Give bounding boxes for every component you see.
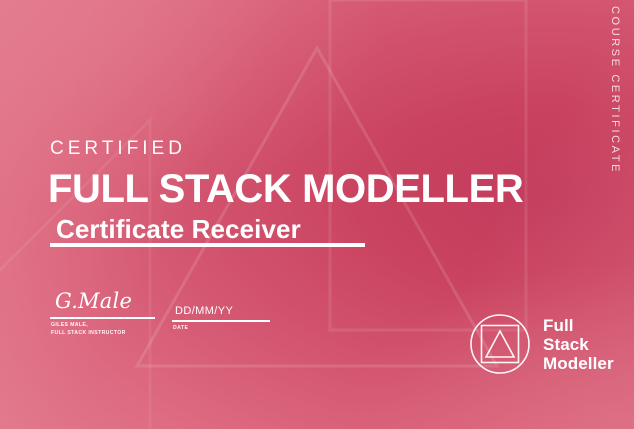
- date-rule: [172, 320, 270, 322]
- brand-wordmark: Full Stack Modeller: [543, 316, 614, 373]
- brand-wordmark-line-2: Stack: [543, 335, 614, 354]
- date-value: DD/MM/YY: [175, 306, 233, 317]
- recipient-underline: [50, 243, 365, 247]
- signature-script: G.Male: [55, 291, 132, 312]
- recipient-name: Certificate Receiver: [56, 216, 301, 243]
- brand-wordmark-line-3: Modeller: [543, 354, 614, 373]
- eyebrow-label: CERTIFIED: [50, 139, 186, 158]
- signature-caption: GILES MALE, FULL STACK INSTRUCTOR: [51, 322, 126, 337]
- brand-lockup: Full Stack Modeller: [469, 313, 614, 375]
- brand-wordmark-line-1: Full: [543, 316, 614, 335]
- circle-square-triangle-logo-icon: [469, 313, 531, 375]
- certificate-card: CERTIFIED FULL STACK MODELLER Certificat…: [0, 0, 634, 429]
- course-certificate-side-label: COURSE CERTIFICATE: [607, 6, 622, 116]
- signature-caption-line-2: FULL STACK INSTRUCTOR: [51, 330, 126, 338]
- signature-caption-line-1: GILES MALE,: [51, 322, 126, 330]
- certificate-content: CERTIFIED FULL STACK MODELLER Certificat…: [0, 0, 634, 429]
- page-title: FULL STACK MODELLER: [48, 168, 523, 210]
- date-caption: DATE: [173, 325, 188, 333]
- signature-rule: [50, 317, 155, 319]
